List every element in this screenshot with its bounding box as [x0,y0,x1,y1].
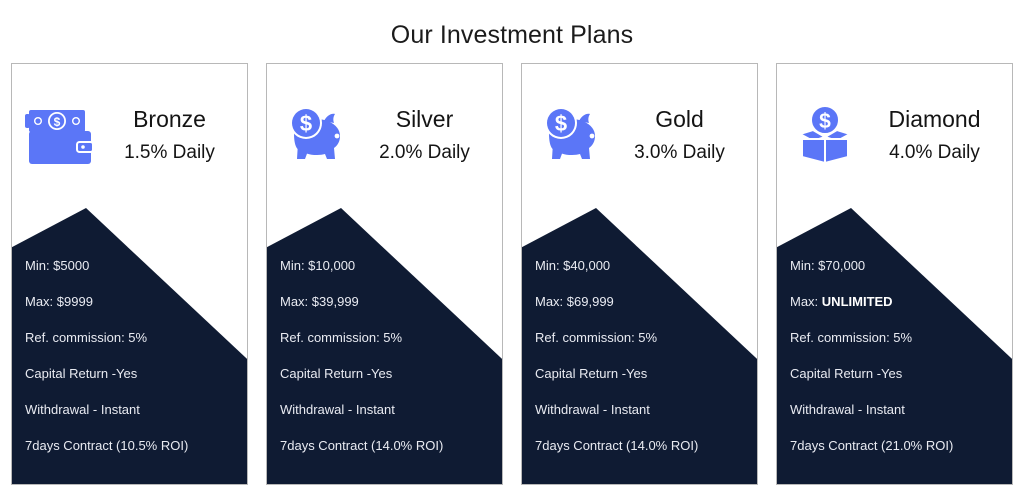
feature-min: Min: $70,000 [790,258,1012,294]
feature-max-label: Max: [535,294,567,309]
feature-min: Min: $40,000 [535,258,757,294]
feature-referral-commission: Ref. commission: 5% [790,330,1012,366]
feature-max: Max: $9999 [25,294,247,330]
feature-withdrawal: Withdrawal - Instant [790,402,1012,438]
feature-capital-return: Capital Return -Yes [790,366,1012,402]
feature-min: Min: $5000 [25,258,247,294]
feature-capital-return: Capital Return -Yes [280,366,502,402]
feature-max-label: Max: [790,294,822,309]
feature-withdrawal: Withdrawal - Instant [25,402,247,438]
feature-max-value: $39,999 [312,294,359,309]
feature-withdrawal: Withdrawal - Instant [280,402,502,438]
feature-max-label: Max: [280,294,312,309]
plan-card-diamond[interactable]: $ Diamond 4.0% Daily Min: $70,000 Max: U… [776,63,1013,485]
feature-max-label: Max: [25,294,57,309]
investment-plans-row: $ Bronze 1.5% Daily Min: $5000 [11,63,1013,485]
plan-features-list: Min: $70,000 Max: UNLIMITED Ref. commiss… [777,64,1012,484]
feature-referral-commission: Ref. commission: 5% [535,330,757,366]
feature-max-value: $9999 [57,294,93,309]
feature-max: Max: $39,999 [280,294,502,330]
feature-max-value: UNLIMITED [822,294,893,309]
feature-withdrawal: Withdrawal - Instant [535,402,757,438]
feature-capital-return: Capital Return -Yes [535,366,757,402]
feature-contract: 7days Contract (21.0% ROI) [790,438,1012,474]
feature-referral-commission: Ref. commission: 5% [280,330,502,366]
plan-card-gold[interactable]: $ Gold 3.0% Daily Min: $40,000 Max: $69,… [521,63,758,485]
plan-card-silver[interactable]: $ Silver 2.0% Daily Min: $10,000 Max: $3… [266,63,503,485]
feature-referral-commission: Ref. commission: 5% [25,330,247,366]
feature-contract: 7days Contract (14.0% ROI) [280,438,502,474]
feature-contract: 7days Contract (14.0% ROI) [535,438,757,474]
feature-max: Max: UNLIMITED [790,294,1012,330]
plan-features-list: Min: $5000 Max: $9999 Ref. commission: 5… [12,64,247,484]
page-title: Our Investment Plans [0,19,1024,51]
feature-capital-return: Capital Return -Yes [25,366,247,402]
plan-features-list: Min: $40,000 Max: $69,999 Ref. commissio… [522,64,757,484]
plan-features-list: Min: $10,000 Max: $39,999 Ref. commissio… [267,64,502,484]
plan-card-bronze[interactable]: $ Bronze 1.5% Daily Min: $5000 [11,63,248,485]
feature-max-value: $69,999 [567,294,614,309]
feature-contract: 7days Contract (10.5% ROI) [25,438,247,474]
feature-max: Max: $69,999 [535,294,757,330]
feature-min: Min: $10,000 [280,258,502,294]
